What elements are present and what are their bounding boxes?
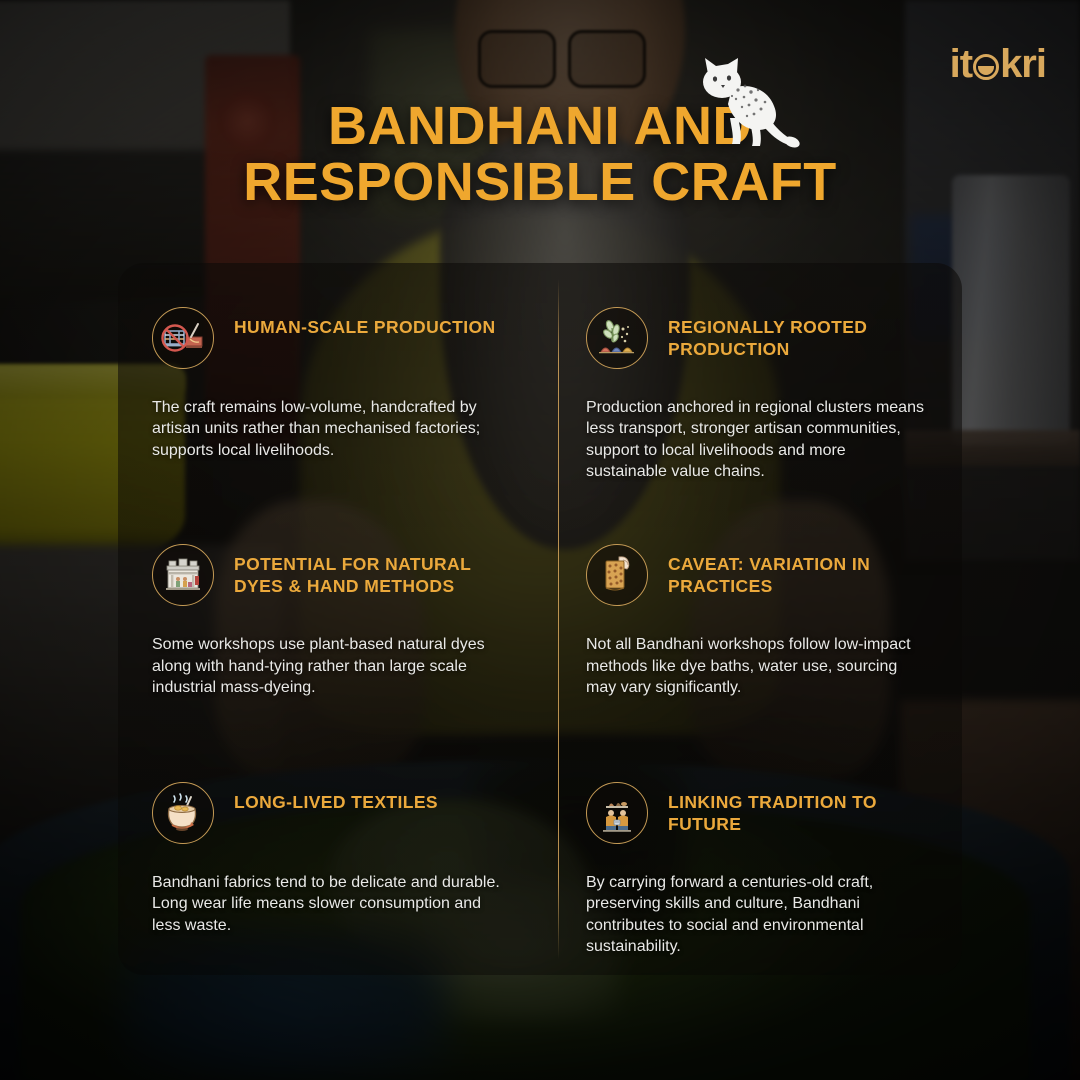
card-body: Not all Bandhani workshops follow low-im… — [586, 634, 928, 698]
card-header: LONG-LIVED TEXTILES — [152, 782, 506, 844]
card-header: LINKING TRADITION TO FUTURE — [586, 782, 928, 844]
card-body: The craft remains low-volume, handcrafte… — [152, 397, 506, 461]
logo-text-before: it — [950, 44, 972, 84]
no-factory-loom-icon — [152, 307, 214, 369]
card-header: CAVEAT: VARIATION IN PRACTICES — [586, 544, 928, 606]
feature-card-potential-for-natural-dyes[interactable]: POTENTIAL FOR NATURAL DYES & HAND METHOD… — [118, 500, 540, 737]
page-title-line-2: RESPONSIBLE CRAFT — [120, 154, 960, 210]
leaves-and-dye-powders-icon — [586, 307, 648, 369]
card-body: Production anchored in regional clusters… — [586, 397, 928, 483]
workshop-building-icon — [152, 544, 214, 606]
hand-holding-patterned-fabric-icon — [586, 544, 648, 606]
feature-card-caveat-variation-in-practices[interactable]: CAVEAT: VARIATION IN PRACTICES Not all B… — [540, 500, 962, 737]
page-title: BANDHANI AND RESPONSIBLE CRAFT — [0, 98, 1080, 210]
card-body: By carrying forward a centuries-old craf… — [586, 872, 928, 958]
steaming-dye-pot-icon — [152, 782, 214, 844]
feature-card-linking-tradition-to-future[interactable]: LINKING TRADITION TO FUTURE By carrying … — [540, 738, 962, 975]
card-title: CAVEAT: VARIATION IN PRACTICES — [668, 544, 928, 597]
card-title: HUMAN-SCALE PRODUCTION — [234, 307, 496, 338]
card-title: LINKING TRADITION TO FUTURE — [668, 782, 928, 835]
card-header: HUMAN-SCALE PRODUCTION — [152, 307, 506, 369]
card-header: POTENTIAL FOR NATURAL DYES & HAND METHOD… — [152, 544, 506, 606]
feature-card-regionally-rooted-production[interactable]: REGIONALLY ROOTED PRODUCTION Production … — [540, 263, 962, 500]
feature-grid: HUMAN-SCALE PRODUCTION The craft remains… — [118, 263, 962, 975]
feature-card-long-lived-textiles[interactable]: LONG-LIVED TEXTILES Bandhani fabrics ten… — [118, 738, 540, 975]
page-title-line-1: BANDHANI AND — [120, 98, 960, 154]
card-body: Bandhani fabrics tend to be delicate and… — [152, 872, 506, 936]
logo-text-after: kri — [1000, 44, 1046, 84]
card-title: POTENTIAL FOR NATURAL DYES & HAND METHOD… — [234, 544, 506, 597]
itokri-logo[interactable]: itkri — [950, 44, 1046, 84]
card-header: REGIONALLY ROOTED PRODUCTION — [586, 307, 928, 369]
feature-card-human-scale-production[interactable]: HUMAN-SCALE PRODUCTION The craft remains… — [118, 263, 540, 500]
logo-bowl-icon — [973, 54, 999, 80]
card-title: LONG-LIVED TEXTILES — [234, 782, 438, 813]
card-title: REGIONALLY ROOTED PRODUCTION — [668, 307, 928, 360]
two-artisans-working-icon — [586, 782, 648, 844]
content-panel: HUMAN-SCALE PRODUCTION The craft remains… — [118, 263, 962, 975]
card-body: Some workshops use plant-based natural d… — [152, 634, 506, 698]
infographic-canvas: itkri BANDHANI AND RESPONSIBLE CRAFT — [0, 0, 1080, 1080]
